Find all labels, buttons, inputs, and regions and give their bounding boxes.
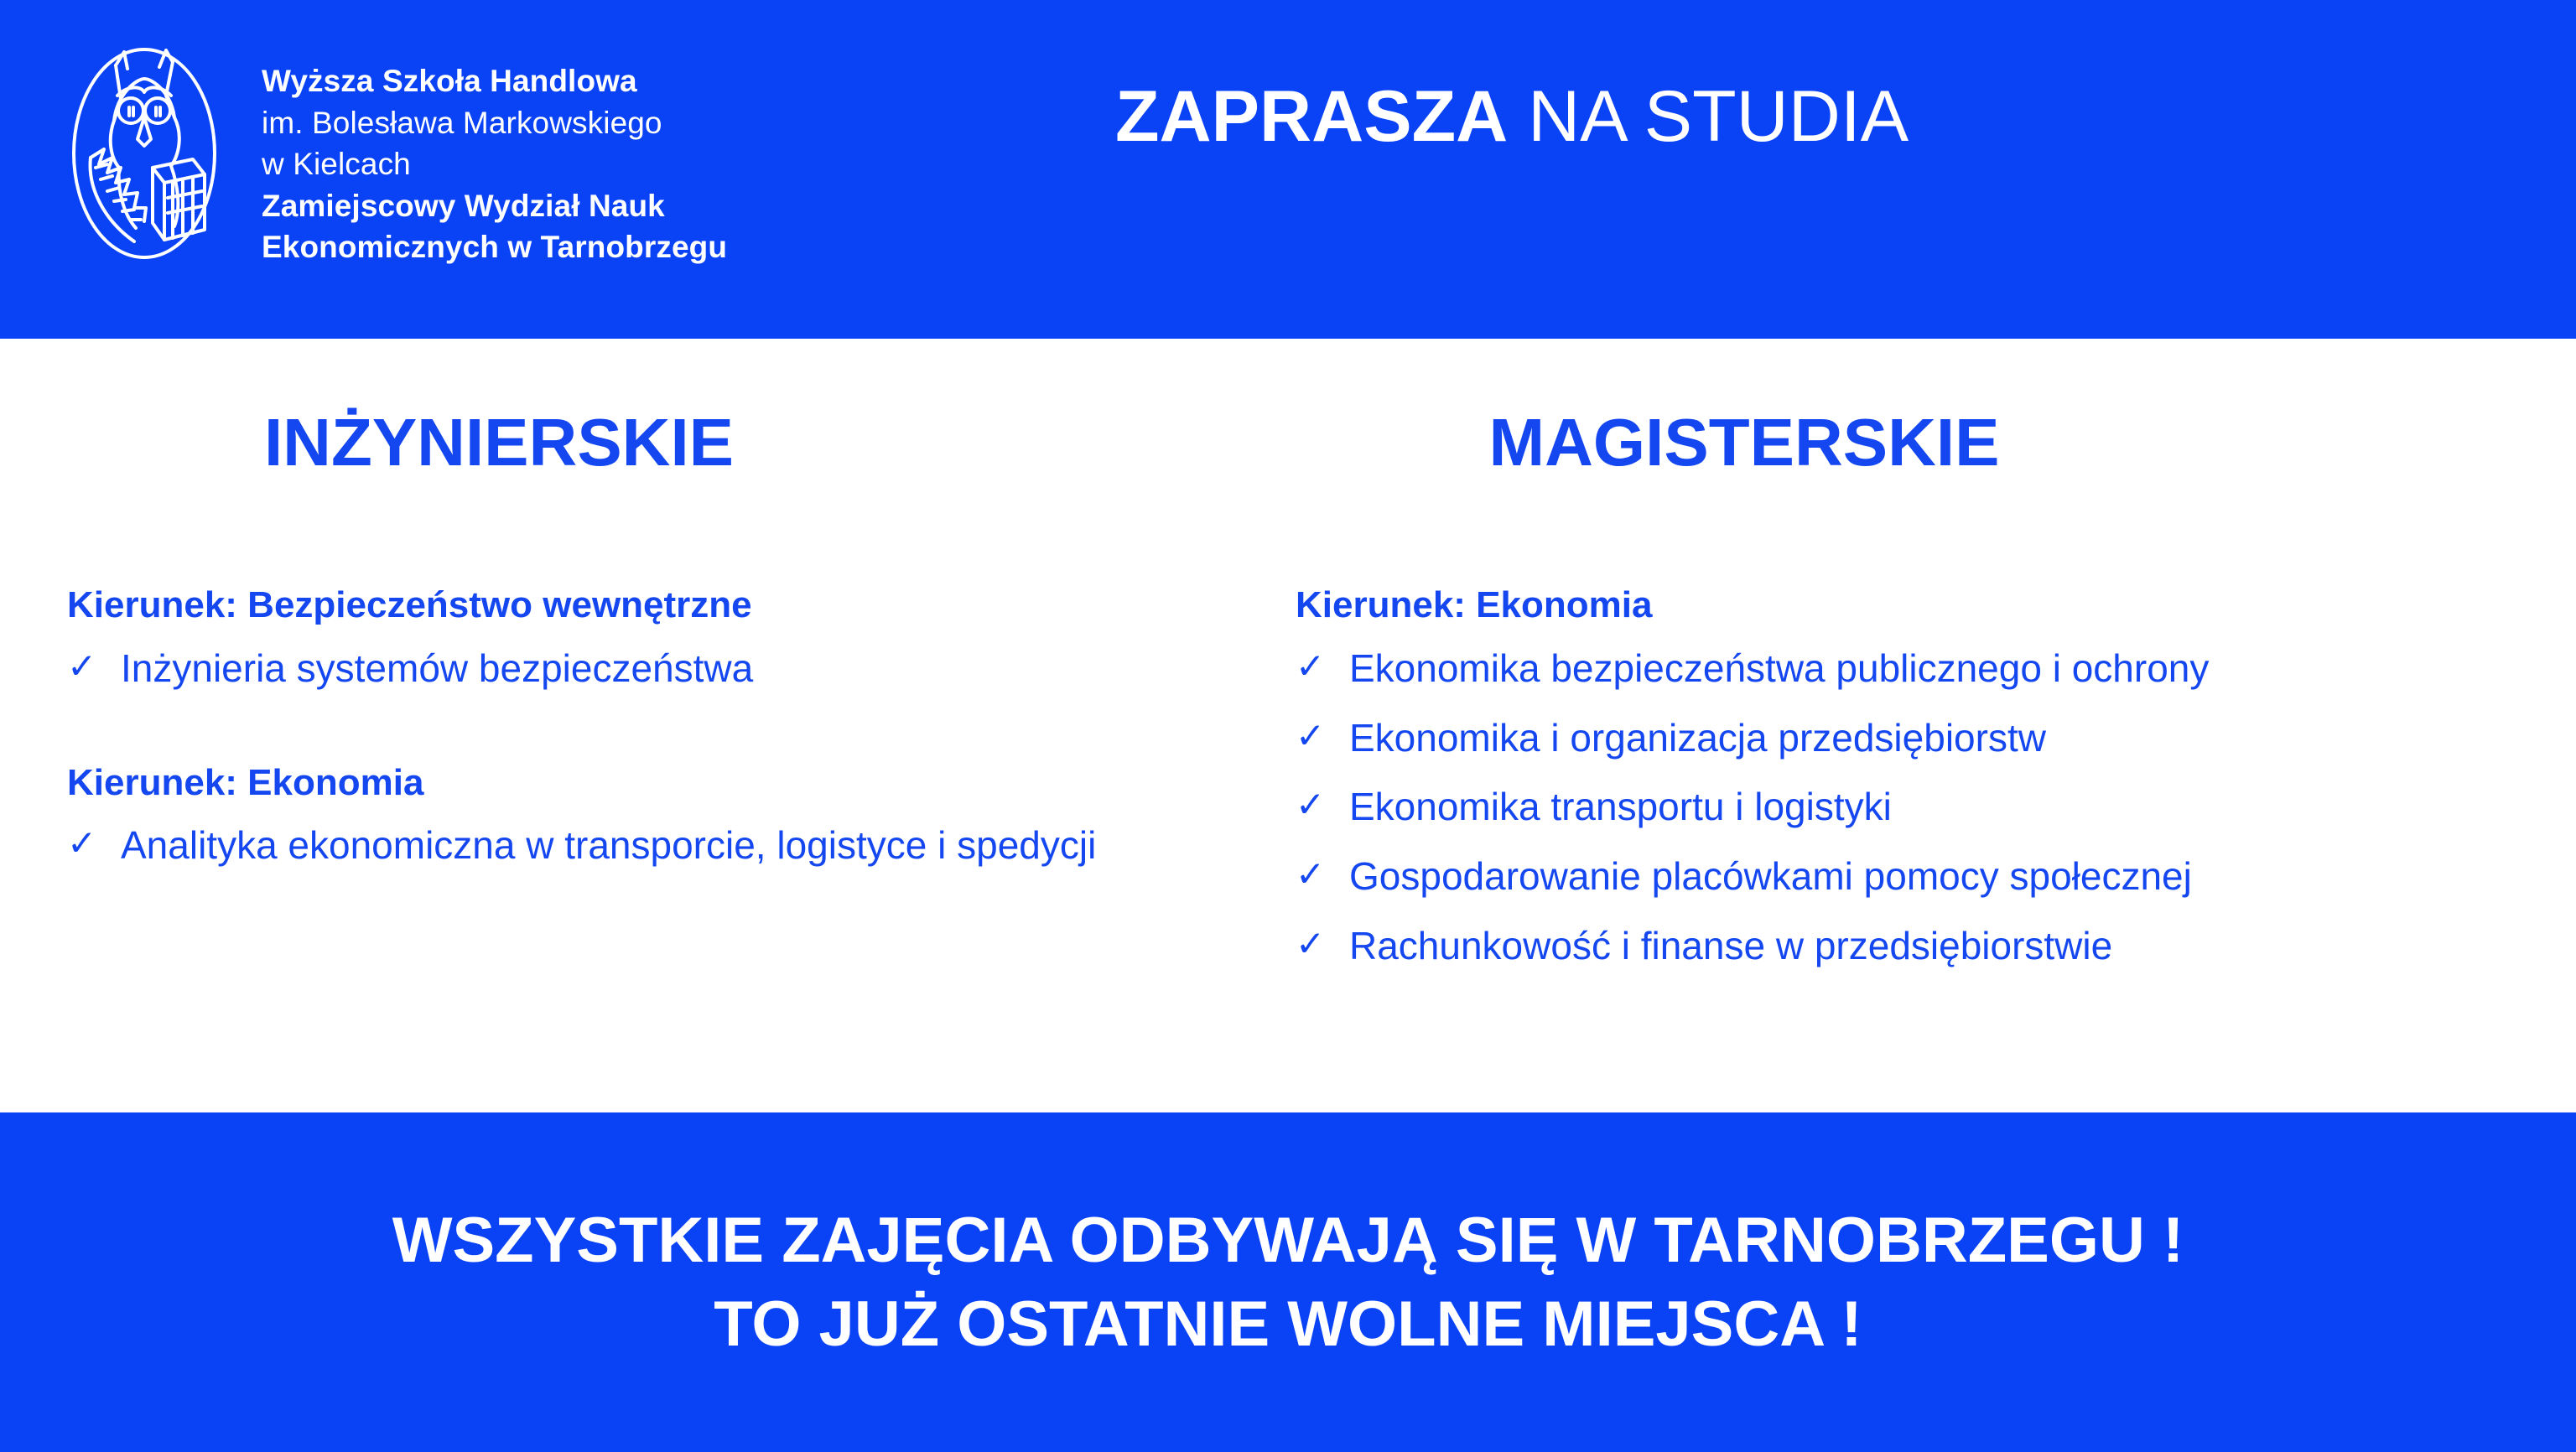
specialization-label: Ekonomika transportu i logistyki [1349,781,2520,832]
list-item: ✓ Ekonomika transportu i logistyki [1296,781,2520,832]
logo-block: Wyższa Szkoła Handlowa im. Bolesława Mar… [65,40,904,292]
column-inzynierskie: INŻYNIERSKIE Kierunek: Bezpieczeństwo we… [67,339,1266,883]
specialization-list: ✓ Inżynieria systemów bezpieczeństwa [67,643,1266,694]
institution-line-1: Wyższa Szkoła Handlowa [262,60,727,102]
institution-line-4: Zamiejscowy Wydział Nauk [262,185,727,227]
program-group: Kierunek: Ekonomia ✓ Analityka ekonomicz… [67,761,1266,872]
checkmark-icon: ✓ [67,643,121,689]
list-item: ✓ Ekonomika i organizacja przedsiębiorst… [1296,713,2520,764]
checkmark-icon: ✓ [1296,713,1349,759]
column-title-magisterskie: MAGISTERSKIE [1296,409,2520,476]
owl-quill-books-emblem-icon [65,40,223,267]
program-group: Kierunek: Ekonomia ✓ Ekonomika bezpiecze… [1296,583,2520,971]
poster-root: Wyższa Szkoła Handlowa im. Bolesława Mar… [0,0,2576,1452]
specialization-label: Inżynieria systemów bezpieczeństwa [121,643,1266,694]
program-group: Kierunek: Bezpieczeństwo wewnętrzne ✓ In… [67,583,1266,694]
footer-band: WSZYSTKIE ZAJĘCIA ODBYWAJĄ SIĘ W TARNOBR… [0,1112,2576,1452]
footer-line-2: TO JUŻ OSTATNIE WOLNE MIEJSCA ! [714,1287,1862,1362]
header-title-strong: ZAPRASZA [1115,76,1508,157]
list-item: ✓ Inżynieria systemów bezpieczeństwa [67,643,1266,694]
specialization-label: Ekonomika i organizacja przedsiębiorstw [1349,713,2520,764]
checkmark-icon: ✓ [1296,920,1349,967]
main-content: INŻYNIERSKIE Kierunek: Bezpieczeństwo we… [0,339,2576,1112]
list-item: ✓ Gospodarowanie placówkami pomocy społe… [1296,851,2520,902]
program-heading: Kierunek: Ekonomia [1296,583,2520,628]
column-title-inzynierskie: INŻYNIERSKIE [67,409,1266,476]
specialization-label: Ekonomika bezpieczeństwa publicznego i o… [1349,643,2520,694]
header-title: ZAPRASZA NA STUDIA [1115,80,2289,153]
specialization-list: ✓ Analityka ekonomiczna w transporcie, l… [67,820,1266,871]
specialization-label: Gospodarowanie placówkami pomocy społecz… [1349,851,2520,902]
institution-line-2: im. Bolesława Markowskiego [262,102,727,144]
institution-name-block: Wyższa Szkoła Handlowa im. Bolesława Mar… [262,40,727,268]
list-item: ✓ Rachunkowość i finanse w przedsiębiors… [1296,920,2520,972]
specialization-label: Analityka ekonomiczna w transporcie, log… [121,820,1266,871]
checkmark-icon: ✓ [67,820,121,866]
specialization-list: ✓ Ekonomika bezpieczeństwa publicznego i… [1296,643,2520,972]
column-magisterskie: MAGISTERSKIE Kierunek: Ekonomia ✓ Ekonom… [1296,339,2520,989]
program-heading: Kierunek: Bezpieczeństwo wewnętrzne [67,583,1266,628]
specialization-label: Rachunkowość i finanse w przedsiębiorstw… [1349,920,2520,972]
list-item: ✓ Ekonomika bezpieczeństwa publicznego i… [1296,643,2520,694]
header-title-light: NA STUDIA [1508,76,1909,157]
footer-line-1: WSZYSTKIE ZAJĘCIA ODBYWAJĄ SIĘ W TARNOBR… [392,1203,2184,1278]
checkmark-icon: ✓ [1296,851,1349,897]
institution-line-5: Ekonomicznych w Tarnobrzegu [262,226,727,268]
checkmark-icon: ✓ [1296,643,1349,689]
checkmark-icon: ✓ [1296,781,1349,827]
header-band: Wyższa Szkoła Handlowa im. Bolesława Mar… [0,0,2576,339]
institution-line-3: w Kielcach [262,143,727,185]
list-item: ✓ Analityka ekonomiczna w transporcie, l… [67,820,1266,871]
program-heading: Kierunek: Ekonomia [67,761,1266,806]
